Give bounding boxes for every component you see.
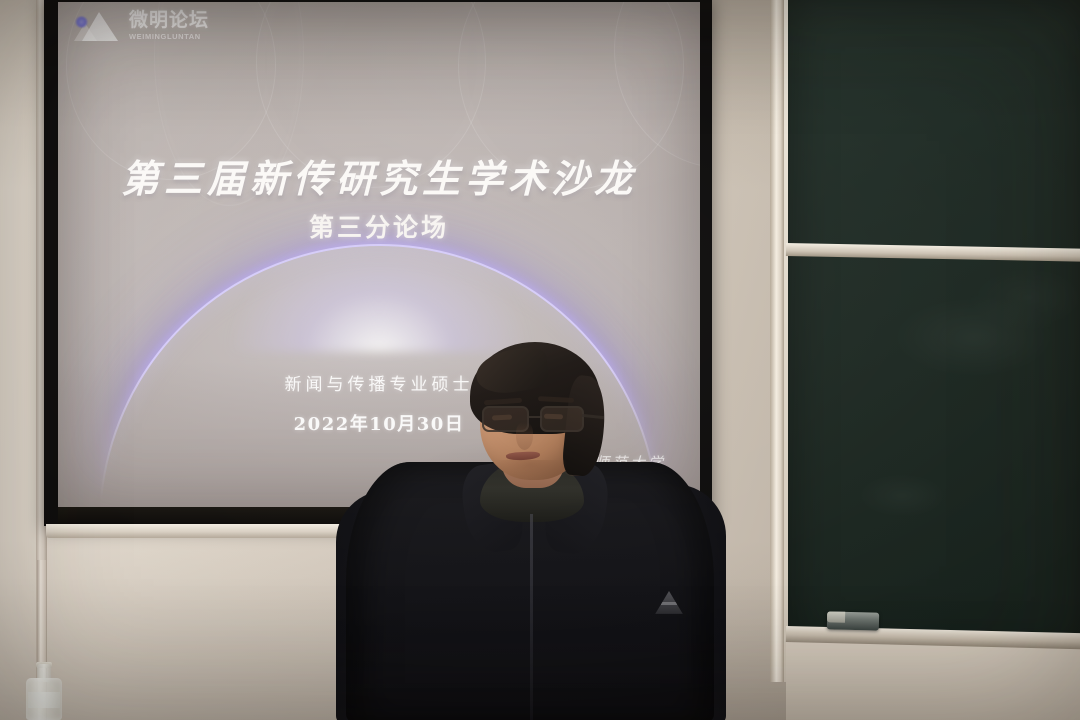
- speaker-chin-shadow: [492, 460, 568, 482]
- blackboard-eraser[interactable]: [827, 611, 879, 630]
- slide-arc-highlight: [229, 232, 529, 352]
- slide-subtitle: 第三分论场: [58, 208, 700, 244]
- water-bottle[interactable]: [24, 662, 64, 720]
- slide-logo: 微明论坛 WEIMINGLUNTAN: [74, 8, 209, 44]
- blackboard: [788, 0, 1080, 654]
- logo-glow-dot: [75, 16, 88, 28]
- speaker-jacket-zipper: [530, 514, 533, 720]
- slide-logo-cn: 微明论坛: [129, 11, 209, 30]
- classroom-photo: 微明论坛 WEIMINGLUNTAN 第三届新传研究生学术沙龙 第三分论场 新闻…: [0, 0, 1080, 720]
- wall-below-blackboard: [786, 640, 1080, 720]
- slide-title: 第三届新传研究生学术沙龙: [58, 148, 700, 203]
- blackboard-chalk-smudges: [788, 0, 1080, 654]
- mountain-peak-icon: [74, 8, 122, 44]
- speaker-nose: [516, 422, 533, 450]
- slide-logo-pinyin: WEIMINGLUNTAN: [129, 33, 209, 41]
- blackboard-left-rail: [770, 0, 784, 682]
- speaker: [330, 352, 730, 720]
- bottle-label: [28, 692, 60, 708]
- speaker-glasses-icon: [478, 406, 600, 434]
